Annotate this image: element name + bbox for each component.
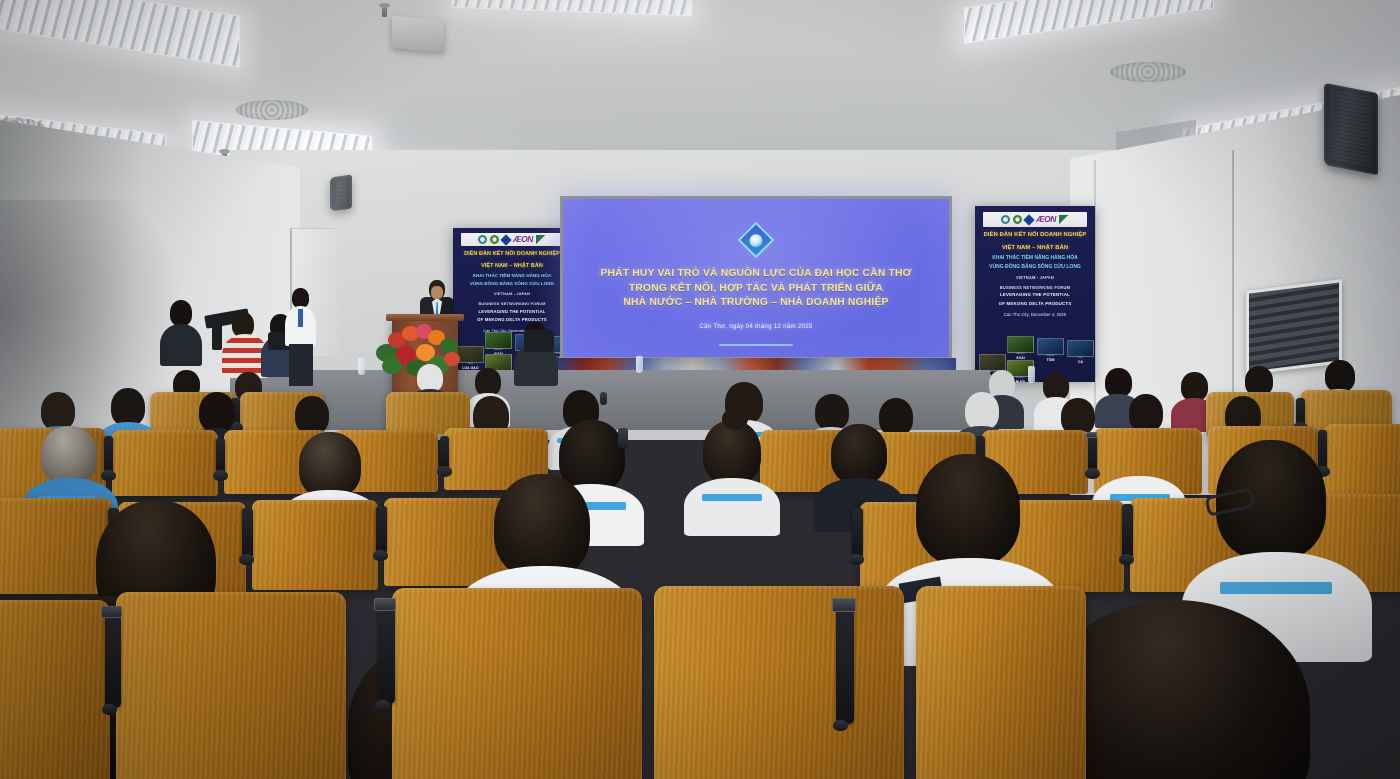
camera-rig — [212, 322, 222, 350]
product-sub: FISH — [1067, 357, 1094, 359]
slide-title-line-1: PHÁT HUY VAI TRÒ VÀ NGUỒN LỰC CỦA ĐẠI HỌ… — [576, 267, 936, 282]
head — [292, 288, 309, 308]
head — [815, 394, 849, 430]
head — [989, 370, 1015, 398]
banner-subheading-en-2: OF MEKONG DELTA PRODUCTS — [977, 301, 1092, 307]
water-bottle — [1028, 366, 1035, 383]
shoulders — [160, 324, 202, 366]
necktie — [298, 309, 303, 327]
head — [965, 392, 999, 430]
water-bottle — [358, 358, 365, 375]
ceiling-projector-box — [392, 16, 444, 53]
mekong-logo-icon — [478, 235, 487, 244]
conference-hall-photo: ÆON DIỄN ĐÀN KẾT NỐI DOANH NGHIỆP VIỆT N… — [0, 0, 1400, 779]
product-photo-shrimp — [1037, 338, 1064, 355]
shoulders — [684, 478, 780, 536]
partner-logo-icon — [536, 235, 546, 244]
ceiling-light-fixture — [452, 0, 692, 16]
banner-heading-vi-2: VIỆT NAM – NHẬT BẢN — [977, 245, 1092, 253]
banner-heading-vi-2: VIỆT NAM – NHẬT BẢN — [455, 263, 568, 270]
slide-title-line-3: NHÀ NƯỚC – NHÀ TRƯỜNG – NHÀ DOANH NGHIỆP — [576, 296, 936, 311]
projection-screen: PHÁT HUY VAI TRÒ VÀ NGUỒN LỰC CỦA ĐẠI HỌ… — [563, 199, 949, 357]
lanyard — [1220, 582, 1332, 594]
agency-logo-icon — [1013, 215, 1022, 224]
sprinkler-head — [382, 6, 387, 17]
seat-strap[interactable] — [104, 436, 113, 474]
seat-strap-buckle — [101, 606, 122, 618]
banner-heading-en-1: VIETNAM - JAPAN — [977, 275, 1092, 281]
seat-strap-buckle — [374, 598, 396, 611]
seat-strap-buckle — [1086, 432, 1097, 438]
head — [299, 432, 361, 498]
aeon-logo-icon: ÆON — [513, 235, 533, 244]
seat-strap[interactable] — [378, 604, 395, 704]
seat-strap[interactable] — [1122, 504, 1133, 558]
head — [41, 392, 75, 430]
head — [295, 396, 329, 434]
partner-logo-icon — [1059, 215, 1069, 224]
seat-strap[interactable] — [852, 508, 863, 558]
banner-subheading-en-1: LEVERAGING THE POTENTIAL — [977, 292, 1092, 298]
auditorium-seat[interactable] — [384, 498, 510, 586]
lanyard — [702, 494, 762, 501]
banner-subheading-vi-2: VÙNG ĐỒNG BẰNG SÔNG CỬU LONG — [455, 281, 568, 287]
slide-title-line-2: TRONG KẾT NỐI, HỢP TÁC VÀ PHÁT TRIỂN GIỮ… — [576, 282, 936, 297]
head — [1181, 372, 1208, 401]
podium-top — [386, 314, 464, 321]
wall-speaker — [1324, 83, 1378, 175]
diamond-logo-icon — [1023, 214, 1034, 225]
trousers — [289, 344, 313, 386]
product-photo-fish — [1067, 340, 1094, 357]
diamond-logo-icon — [500, 234, 511, 245]
seat-strap[interactable] — [105, 612, 121, 708]
banner-product: SHRIMP TÔM — [1037, 338, 1064, 362]
banner-subheading-vi-1: KHAI THÁC TIỀM NĂNG HÀNG HÓA — [455, 273, 568, 279]
seat-strap[interactable] — [376, 506, 387, 554]
banner-product: MANGO XOÀI — [1007, 336, 1034, 360]
slide-underline — [719, 344, 793, 346]
aeon-logo-icon: ÆON — [1036, 215, 1056, 224]
auditorium-seat[interactable] — [116, 592, 346, 779]
product-name: TÔM — [1037, 358, 1064, 362]
head — [916, 454, 1020, 566]
water-bottle — [636, 356, 643, 373]
product-photo-mango — [1007, 336, 1034, 353]
ceiling-air-vent — [236, 100, 308, 120]
product-sub: MANGO — [1007, 353, 1034, 355]
sponsor-logo-row: ÆON — [461, 233, 562, 246]
head — [111, 388, 145, 426]
banner-product: FISH CÁ — [1067, 340, 1094, 364]
product-sub: SHRIMP — [1037, 355, 1064, 357]
seat-headset[interactable] — [600, 392, 607, 405]
wall-air-grille — [1246, 279, 1342, 375]
head — [199, 392, 235, 432]
seat-strap-buckle — [832, 598, 856, 612]
sponsor-logo-row: ÆON — [983, 212, 1086, 227]
head — [1043, 372, 1069, 400]
banner-subheading-en-2: OF MEKONG DELTA PRODUCTS — [455, 317, 568, 323]
head — [475, 368, 501, 396]
head — [170, 300, 192, 326]
banner-subheading-vi-1: KHAI THÁC TIỀM NĂNG HÀNG HÓA — [977, 255, 1092, 262]
video-camera — [524, 330, 554, 352]
auditorium-seat[interactable] — [916, 586, 1086, 779]
product-name: CÁ — [1067, 360, 1094, 364]
banner-subheading-en-1: LEVERAGING THE POTENTIAL — [455, 309, 568, 315]
auditorium-seat[interactable] — [112, 430, 218, 496]
forum-banner-right: ÆON DIỄN ĐÀN KẾT NỐI DOANH NGHIỆP VIỆT N… — [975, 206, 1095, 382]
head — [1105, 368, 1132, 397]
auditorium-seat[interactable] — [392, 588, 642, 779]
slide-date: Cần Thơ, ngày 04 tháng 12 năm 2025 — [699, 323, 812, 330]
stage-floor — [230, 370, 990, 430]
presenter-face — [431, 286, 443, 299]
head — [831, 424, 887, 484]
auditorium-seat[interactable] — [654, 586, 904, 779]
seat-strap[interactable] — [242, 508, 253, 558]
auditorium-seat[interactable] — [252, 500, 378, 590]
ceiling-air-vent — [1110, 62, 1186, 82]
auditorium-seat[interactable] — [1324, 424, 1400, 494]
head — [417, 364, 443, 392]
head — [1325, 360, 1355, 392]
product-sub: MANGO — [485, 349, 512, 351]
banner-heading-vi-1: DIỄN ĐÀN KẾT NỐI DOANH NGHIỆP — [455, 251, 568, 258]
banner-subheading-vi-2: VÙNG ĐỒNG BẰNG SÔNG CỬU LONG — [977, 264, 1092, 271]
auditorium-seat[interactable] — [0, 600, 110, 779]
seat-strap[interactable] — [1318, 430, 1327, 470]
emblem-inner-icon — [750, 234, 763, 247]
agency-logo-icon — [490, 235, 499, 244]
head — [1111, 420, 1169, 482]
banner-heading-en-2: BUSINESS NETWORKING FORUM — [977, 285, 1092, 291]
seat-strap[interactable] — [216, 438, 225, 474]
head — [41, 426, 97, 484]
head — [494, 474, 590, 578]
seat-strap[interactable] — [1296, 398, 1305, 426]
banner-heading-en-2: BUSINESS NETWORKING FORUM — [455, 301, 568, 307]
head — [879, 398, 913, 436]
seat-headset[interactable] — [618, 428, 628, 448]
seat-strap[interactable] — [836, 604, 854, 724]
banner-heading-en-1: VIETNAM - JAPAN — [455, 291, 568, 297]
banner-date: Can Tho City, December 4, 2025 — [1004, 312, 1066, 317]
seat-strap[interactable] — [440, 436, 449, 470]
seat-strap[interactable] — [1088, 434, 1097, 472]
banner-heading-vi-1: DIỄN ĐÀN KẾT NỐI DOANH NGHIỆP — [977, 232, 1092, 240]
banner-product: MANGO XOÀI — [485, 332, 512, 356]
mekong-logo-icon — [1001, 215, 1010, 224]
wall-speaker — [330, 174, 352, 211]
product-photo-mango — [485, 332, 512, 349]
hair-bun — [722, 408, 748, 430]
product-photo-rice — [979, 354, 1006, 371]
